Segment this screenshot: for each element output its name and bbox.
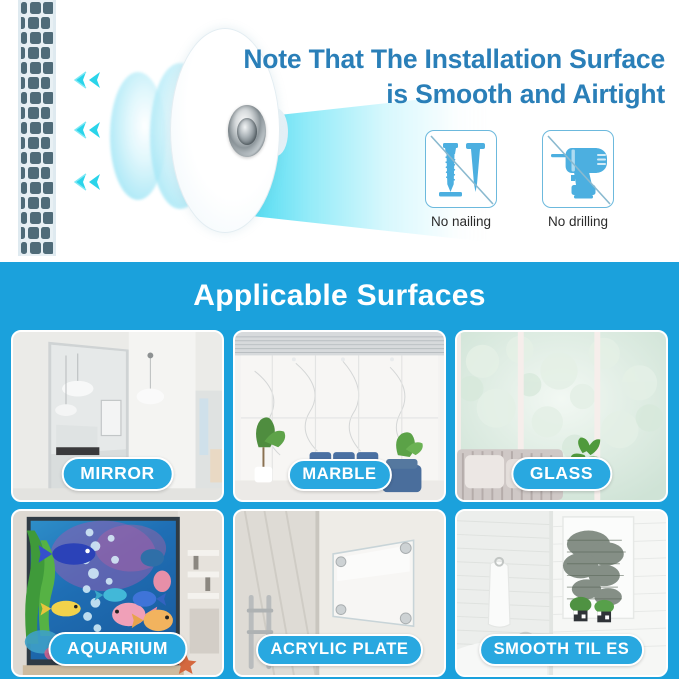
brick — [53, 167, 57, 179]
brick-row — [21, 120, 56, 135]
brick — [18, 137, 25, 149]
brick-row — [21, 240, 56, 255]
surface-tile-grid: MIRROR — [11, 330, 668, 677]
tile-label-acrylic-plate: ACRYLIC PLATE — [256, 634, 424, 666]
brick — [21, 32, 27, 44]
surface-tile-marble[interactable]: MARBLE — [233, 330, 446, 502]
installation-note-panel: Note That The Installation Surface is Sm… — [0, 0, 679, 262]
brick-row — [21, 210, 56, 225]
brick — [41, 137, 50, 149]
brick-row — [21, 180, 56, 195]
brick — [43, 32, 54, 44]
double-chevron-left-icon — [70, 70, 104, 90]
brick — [18, 47, 25, 59]
brick — [43, 152, 54, 164]
brick — [21, 212, 27, 224]
brick — [53, 17, 57, 29]
brick — [53, 107, 57, 119]
brick — [43, 182, 54, 194]
brick-row — [21, 225, 56, 240]
brick-row — [21, 30, 56, 45]
double-chevron-left-icon — [70, 120, 104, 140]
brick — [30, 242, 41, 254]
brick — [30, 122, 41, 134]
brick — [41, 197, 50, 209]
brick — [21, 92, 27, 104]
suction-cup-hub — [228, 105, 266, 157]
brick — [18, 77, 25, 89]
brick — [21, 242, 27, 254]
brick — [30, 92, 41, 104]
tile-label-smooth-tiles: SMOOTH TIL ES — [479, 634, 645, 666]
infographic-page: Note That The Installation Surface is Sm… — [0, 0, 679, 679]
brick-row — [21, 90, 56, 105]
power-drill-crossed-icon — [542, 130, 614, 208]
no-nailing-item: No nailing — [420, 130, 502, 229]
brick — [28, 77, 39, 89]
brick — [43, 242, 54, 254]
brick-row — [21, 135, 56, 150]
brick-wall-texture — [18, 0, 56, 256]
brick — [28, 47, 39, 59]
brick — [41, 47, 50, 59]
brick — [21, 122, 27, 134]
brick — [21, 62, 27, 74]
brick — [21, 182, 27, 194]
brick — [41, 107, 50, 119]
brick — [18, 17, 25, 29]
brick — [30, 32, 41, 44]
brick — [21, 152, 27, 164]
surface-tile-glass[interactable]: GLASS — [455, 330, 668, 502]
brick — [41, 17, 50, 29]
brick — [43, 2, 54, 14]
page-title: Note That The Installation Surface is Sm… — [200, 42, 665, 112]
brick — [21, 2, 27, 14]
brick — [53, 77, 57, 89]
no-drilling-item: No drilling — [537, 130, 619, 229]
brick — [28, 107, 39, 119]
surface-tile-smooth-tiles[interactable]: SMOOTH TIL ES — [455, 509, 668, 677]
surface-tile-acrylic-plate[interactable]: ACRYLIC PLATE — [233, 509, 446, 677]
no-nailing-label: No nailing — [420, 214, 502, 229]
brick-row — [21, 15, 56, 30]
brick — [53, 197, 57, 209]
brick — [43, 212, 54, 224]
brick — [43, 62, 54, 74]
brick — [41, 77, 50, 89]
brick — [18, 107, 25, 119]
headline-line-1: Note That The Installation Surface — [243, 44, 665, 74]
tile-label-mirror: MIRROR — [61, 457, 174, 491]
brick-row — [21, 60, 56, 75]
applicable-surfaces-panel: Applicable Surfaces — [0, 262, 679, 679]
brick — [28, 227, 39, 239]
brick — [41, 167, 50, 179]
brick — [53, 137, 57, 149]
brick — [18, 227, 25, 239]
brick — [53, 227, 57, 239]
brick-row — [21, 150, 56, 165]
brick — [53, 47, 57, 59]
tile-label-glass: GLASS — [511, 457, 612, 491]
tile-label-marble: MARBLE — [287, 459, 391, 491]
surface-tile-aquarium[interactable]: AQUARIUM — [11, 509, 224, 677]
brick — [28, 17, 39, 29]
brick — [30, 2, 41, 14]
brick — [41, 227, 50, 239]
headline-line-2: is Smooth and Airtight — [200, 77, 665, 112]
brick-row — [21, 195, 56, 210]
brick-row — [21, 75, 56, 90]
tile-label-aquarium: AQUARIUM — [48, 632, 187, 666]
brick-row — [21, 165, 56, 180]
screw-nail-crossed-icon — [425, 130, 497, 208]
no-drilling-label: No drilling — [537, 214, 619, 229]
surface-tile-mirror[interactable]: MIRROR — [11, 330, 224, 502]
brick — [18, 167, 25, 179]
brick — [28, 197, 39, 209]
brick-row — [21, 0, 56, 15]
prohibition-icon-group: No nailing — [420, 130, 640, 250]
section-title: Applicable Surfaces — [0, 262, 679, 313]
brick — [28, 167, 39, 179]
brick — [30, 62, 41, 74]
brick-row — [21, 45, 56, 60]
brick — [43, 122, 54, 134]
double-chevron-left-icon — [70, 172, 104, 192]
brick — [43, 92, 54, 104]
brick — [30, 212, 41, 224]
brick — [18, 197, 25, 209]
brick — [30, 152, 41, 164]
brick-row — [21, 105, 56, 120]
brick — [30, 182, 41, 194]
brick — [28, 137, 39, 149]
